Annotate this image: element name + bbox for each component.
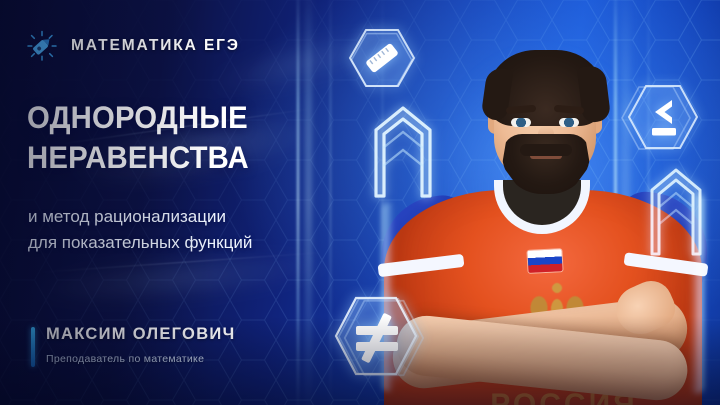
presenter-role: Преподаватель по математике bbox=[46, 353, 235, 365]
brand-label: МАТЕМАТИКА ЕГЭ bbox=[71, 37, 240, 55]
slide-canvas: РОССИЯ bbox=[0, 0, 720, 405]
brand-lockup: МАТЕМАТИКА ЕГЭ bbox=[26, 30, 240, 62]
title-line-2: НЕРАВЕНСТВА bbox=[27, 137, 315, 177]
pencil-sparkle-icon bbox=[26, 30, 58, 62]
presenter-name: МАКСИМ ОЛЕГОВИЧ bbox=[46, 325, 235, 344]
text-layer: МАТЕМАТИКА ЕГЭ ОДНОРОДНЫЕ НЕРАВЕНСТВА и … bbox=[0, 0, 720, 405]
page-title: ОДНОРОДНЫЕ НЕРАВЕНСТВА bbox=[27, 97, 315, 177]
subtitle-line-2: для показательных функций bbox=[28, 233, 252, 252]
title-line-1: ОДНОРОДНЫЕ bbox=[27, 99, 248, 135]
page-subtitle: и метод рационализации для показательных… bbox=[28, 204, 358, 256]
accent-bar bbox=[31, 327, 35, 367]
presenter-credit: МАКСИМ ОЛЕГОВИЧ Преподаватель по математ… bbox=[31, 325, 235, 365]
subtitle-line-1: и метод рационализации bbox=[28, 207, 226, 226]
